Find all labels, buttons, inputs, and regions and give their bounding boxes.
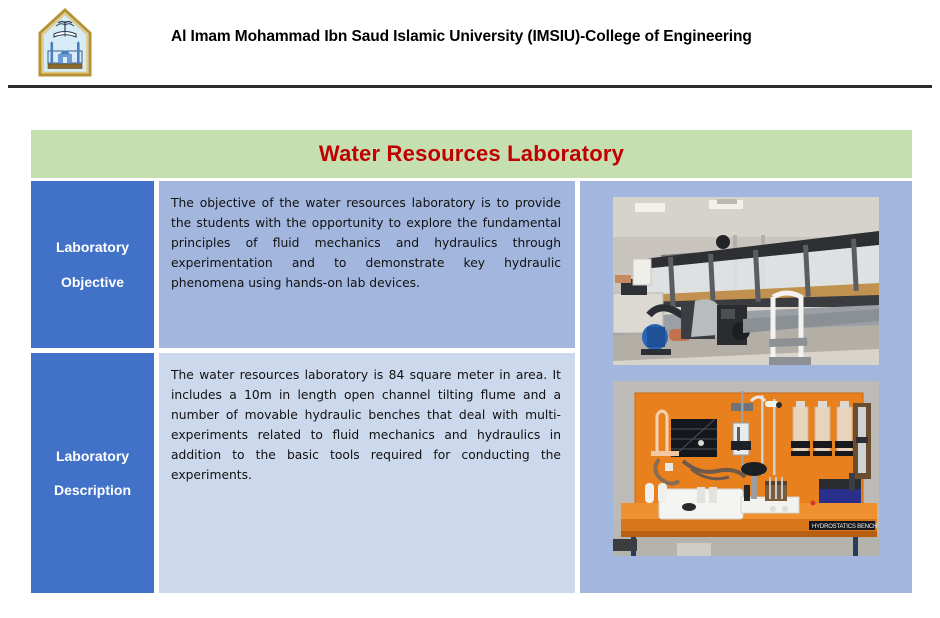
page-title: Al Imam Mohammad Ibn Saud Islamic Univer… [171,28,752,46]
page-header: Al Imam Mohammad Ibn Saud Islamic Univer… [0,0,940,88]
row-label-cell-objective: Laboratory Objective [31,181,154,348]
row-label-line1: Laboratory [56,439,129,473]
header-divider [8,85,932,88]
hydrostatics-bench-photo: HYDROSTATICS BENCH F9092 [613,381,879,556]
open-channel-tilting-flume-photo [613,197,879,365]
imsiu-university-crest-icon [36,7,94,79]
hydrostatics-bench-label: HYDROSTATICS BENCH F9092 [812,524,879,530]
university-logo [36,7,94,79]
lab-title-text: Water Resources Laboratory [319,141,624,167]
slide-page: Al Imam Mohammad Ibn Saud Islamic Univer… [0,0,940,618]
row-body-cell-objective: The objective of the water resources lab… [159,181,575,348]
row-label-line1: Laboratory [56,230,129,264]
photo-column: HYDROSTATICS BENCH F9092 [580,181,912,593]
lab-title-banner: Water Resources Laboratory [31,130,912,178]
row-label-line2: Description [54,473,131,507]
row-label-line2: Objective [61,265,124,299]
lab-info-table: Laboratory Objective The objective of th… [31,181,912,593]
row-label-cell-description: Laboratory Description [31,353,154,593]
lab-objective-text: The objective of the water resources lab… [159,181,575,348]
row-body-cell-description: The water resources laboratory is 84 squ… [159,353,575,593]
lab-description-text: The water resources laboratory is 84 squ… [159,353,575,593]
